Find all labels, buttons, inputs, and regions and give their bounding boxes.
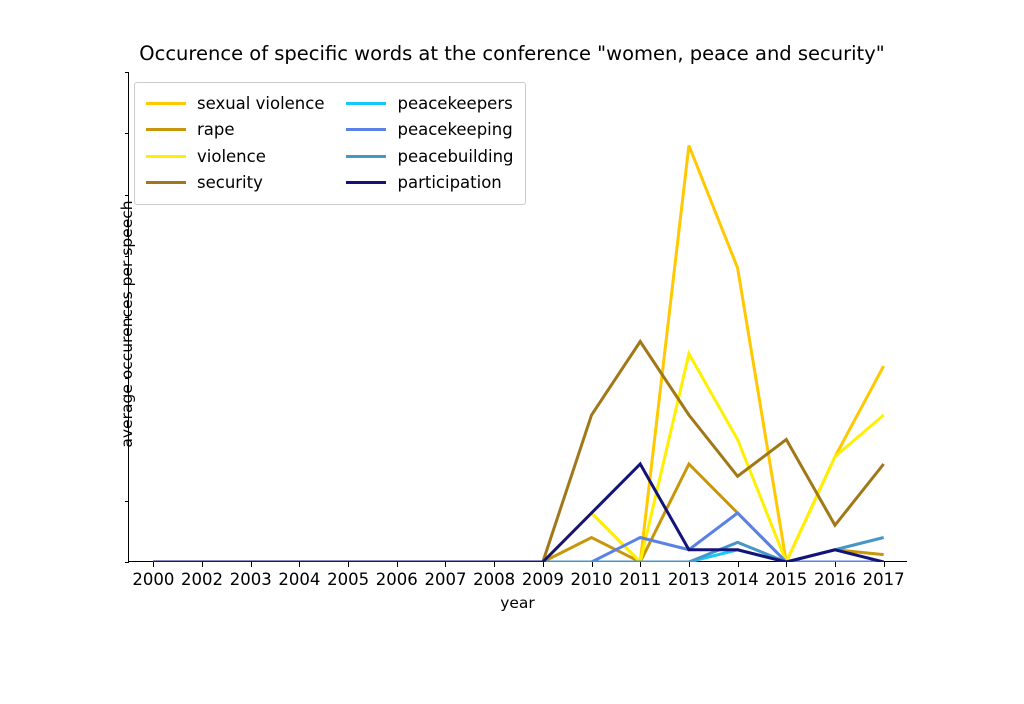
chart-figure: Occurence of specific words at the confe… bbox=[0, 0, 1024, 640]
legend-color-swatch bbox=[146, 102, 186, 105]
x-tick-mark bbox=[592, 562, 593, 567]
legend-label: peacekeeping bbox=[397, 120, 512, 139]
x-tick-mark bbox=[397, 562, 398, 567]
legend-label: violence bbox=[197, 147, 266, 166]
legend-label: peacekeepers bbox=[397, 94, 512, 113]
series-line bbox=[153, 464, 883, 562]
series-line bbox=[153, 354, 883, 562]
legend-entry[interactable]: sexual violence bbox=[146, 90, 324, 117]
legend-entry[interactable]: violence bbox=[146, 143, 324, 170]
x-tick-label: 2017 bbox=[824, 570, 944, 589]
x-tick-mark bbox=[689, 562, 690, 567]
x-tick-mark bbox=[153, 562, 154, 567]
series-line bbox=[153, 146, 883, 563]
x-tick-mark bbox=[884, 562, 885, 567]
x-tick-mark bbox=[348, 562, 349, 567]
legend-color-swatch bbox=[346, 128, 386, 131]
legend-entry[interactable]: peacekeeping bbox=[346, 117, 513, 144]
legend-color-swatch bbox=[346, 102, 386, 105]
legend-entry[interactable]: rape bbox=[146, 117, 324, 144]
legend-grid: sexual violencepeacekeepersrapepeacekeep… bbox=[146, 90, 514, 196]
x-tick-mark bbox=[251, 562, 252, 567]
legend-entry[interactable]: security bbox=[146, 170, 324, 197]
x-axis-label: year bbox=[128, 594, 907, 612]
legend-entry[interactable]: peacekeepers bbox=[346, 90, 513, 117]
legend-color-swatch bbox=[146, 155, 186, 158]
legend-color-swatch bbox=[346, 181, 386, 184]
x-tick-mark bbox=[202, 562, 203, 567]
x-tick-mark bbox=[786, 562, 787, 567]
x-tick-mark bbox=[299, 562, 300, 567]
x-tick-mark bbox=[543, 562, 544, 567]
series-line bbox=[153, 513, 883, 562]
x-tick-mark bbox=[835, 562, 836, 567]
y-tick-mark bbox=[125, 562, 130, 563]
legend-color-swatch bbox=[146, 181, 186, 184]
legend-entry[interactable]: peacebuilding bbox=[346, 143, 513, 170]
x-tick-mark bbox=[640, 562, 641, 567]
x-tick-mark bbox=[738, 562, 739, 567]
chart-title: Occurence of specific words at the confe… bbox=[0, 42, 1024, 65]
chart-legend: sexual violencepeacekeepersrapepeacekeep… bbox=[134, 82, 526, 205]
legend-label: participation bbox=[397, 173, 501, 192]
legend-label: rape bbox=[197, 120, 235, 139]
legend-color-swatch bbox=[346, 155, 386, 158]
series-line bbox=[153, 464, 883, 562]
x-tick-mark bbox=[494, 562, 495, 567]
legend-color-swatch bbox=[146, 128, 186, 131]
x-tick-mark bbox=[445, 562, 446, 567]
legend-label: peacebuilding bbox=[397, 147, 513, 166]
legend-label: sexual violence bbox=[197, 94, 324, 113]
legend-entry[interactable]: participation bbox=[346, 170, 513, 197]
legend-label: security bbox=[197, 173, 263, 192]
